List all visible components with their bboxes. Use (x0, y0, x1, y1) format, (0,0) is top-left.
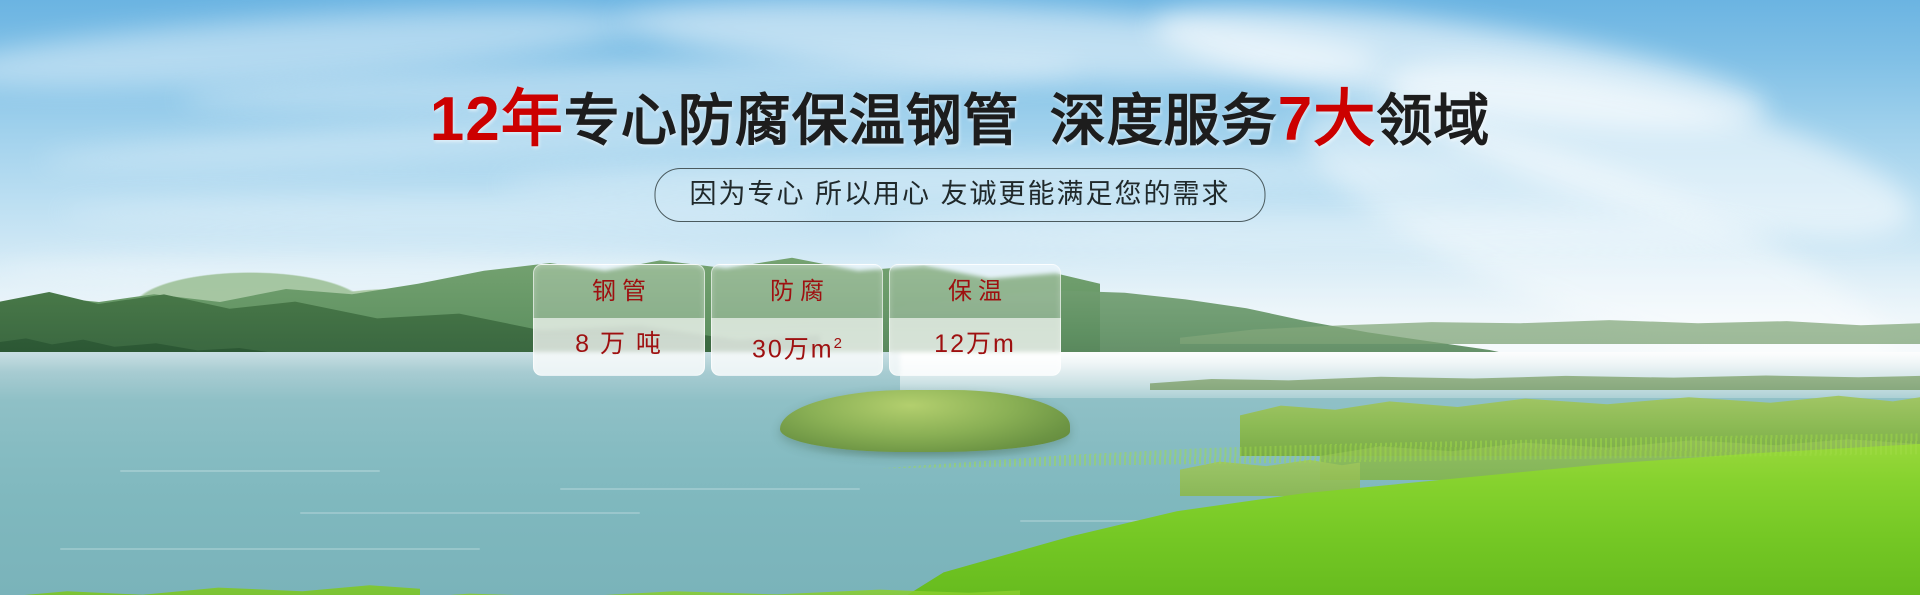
hero-banner: 12年专心防腐保温钢管深度服务7大领域 因为专心 所以用心 友诚更能满足您的需求… (0, 0, 1920, 595)
stat-card-value-superscript: 2 (834, 335, 842, 352)
banner-headline: 12年专心防腐保温钢管深度服务7大领域 (0, 88, 1920, 153)
stat-card-list: 钢管 8 万 吨 防腐 30万m2 保温 12万m (533, 264, 1061, 376)
stat-card-value: 30万m2 (752, 316, 842, 372)
headline-focus: 专心防腐保温钢管 (564, 89, 1020, 152)
banner-subtitle-pill: 因为专心 所以用心 友诚更能满足您的需求 (654, 168, 1265, 222)
stat-card-value-text: 12万m (934, 330, 1016, 358)
stat-card-title: 钢管 (586, 268, 652, 316)
stat-card-anticorrosion[interactable]: 防腐 30万m2 (711, 264, 883, 376)
headline-service: 深度服务 (1050, 89, 1278, 152)
headline-years: 12年 (430, 85, 564, 154)
headline-fields: 领域 (1376, 89, 1490, 152)
stat-card-value-text: 30万m (752, 335, 834, 363)
stat-card-value-text: 8 万 吨 (575, 330, 663, 358)
stat-card-title: 防腐 (764, 268, 830, 316)
stat-card-steel-pipe[interactable]: 钢管 8 万 吨 (533, 264, 705, 376)
stat-card-insulation[interactable]: 保温 12万m (889, 264, 1061, 376)
stat-card-title: 保温 (942, 268, 1008, 316)
stat-card-value: 8 万 吨 (575, 316, 663, 372)
stat-card-value: 12万m (934, 316, 1016, 372)
banner-content: 12年专心防腐保温钢管深度服务7大领域 因为专心 所以用心 友诚更能满足您的需求… (0, 0, 1920, 595)
headline-count: 7大 (1278, 85, 1376, 154)
